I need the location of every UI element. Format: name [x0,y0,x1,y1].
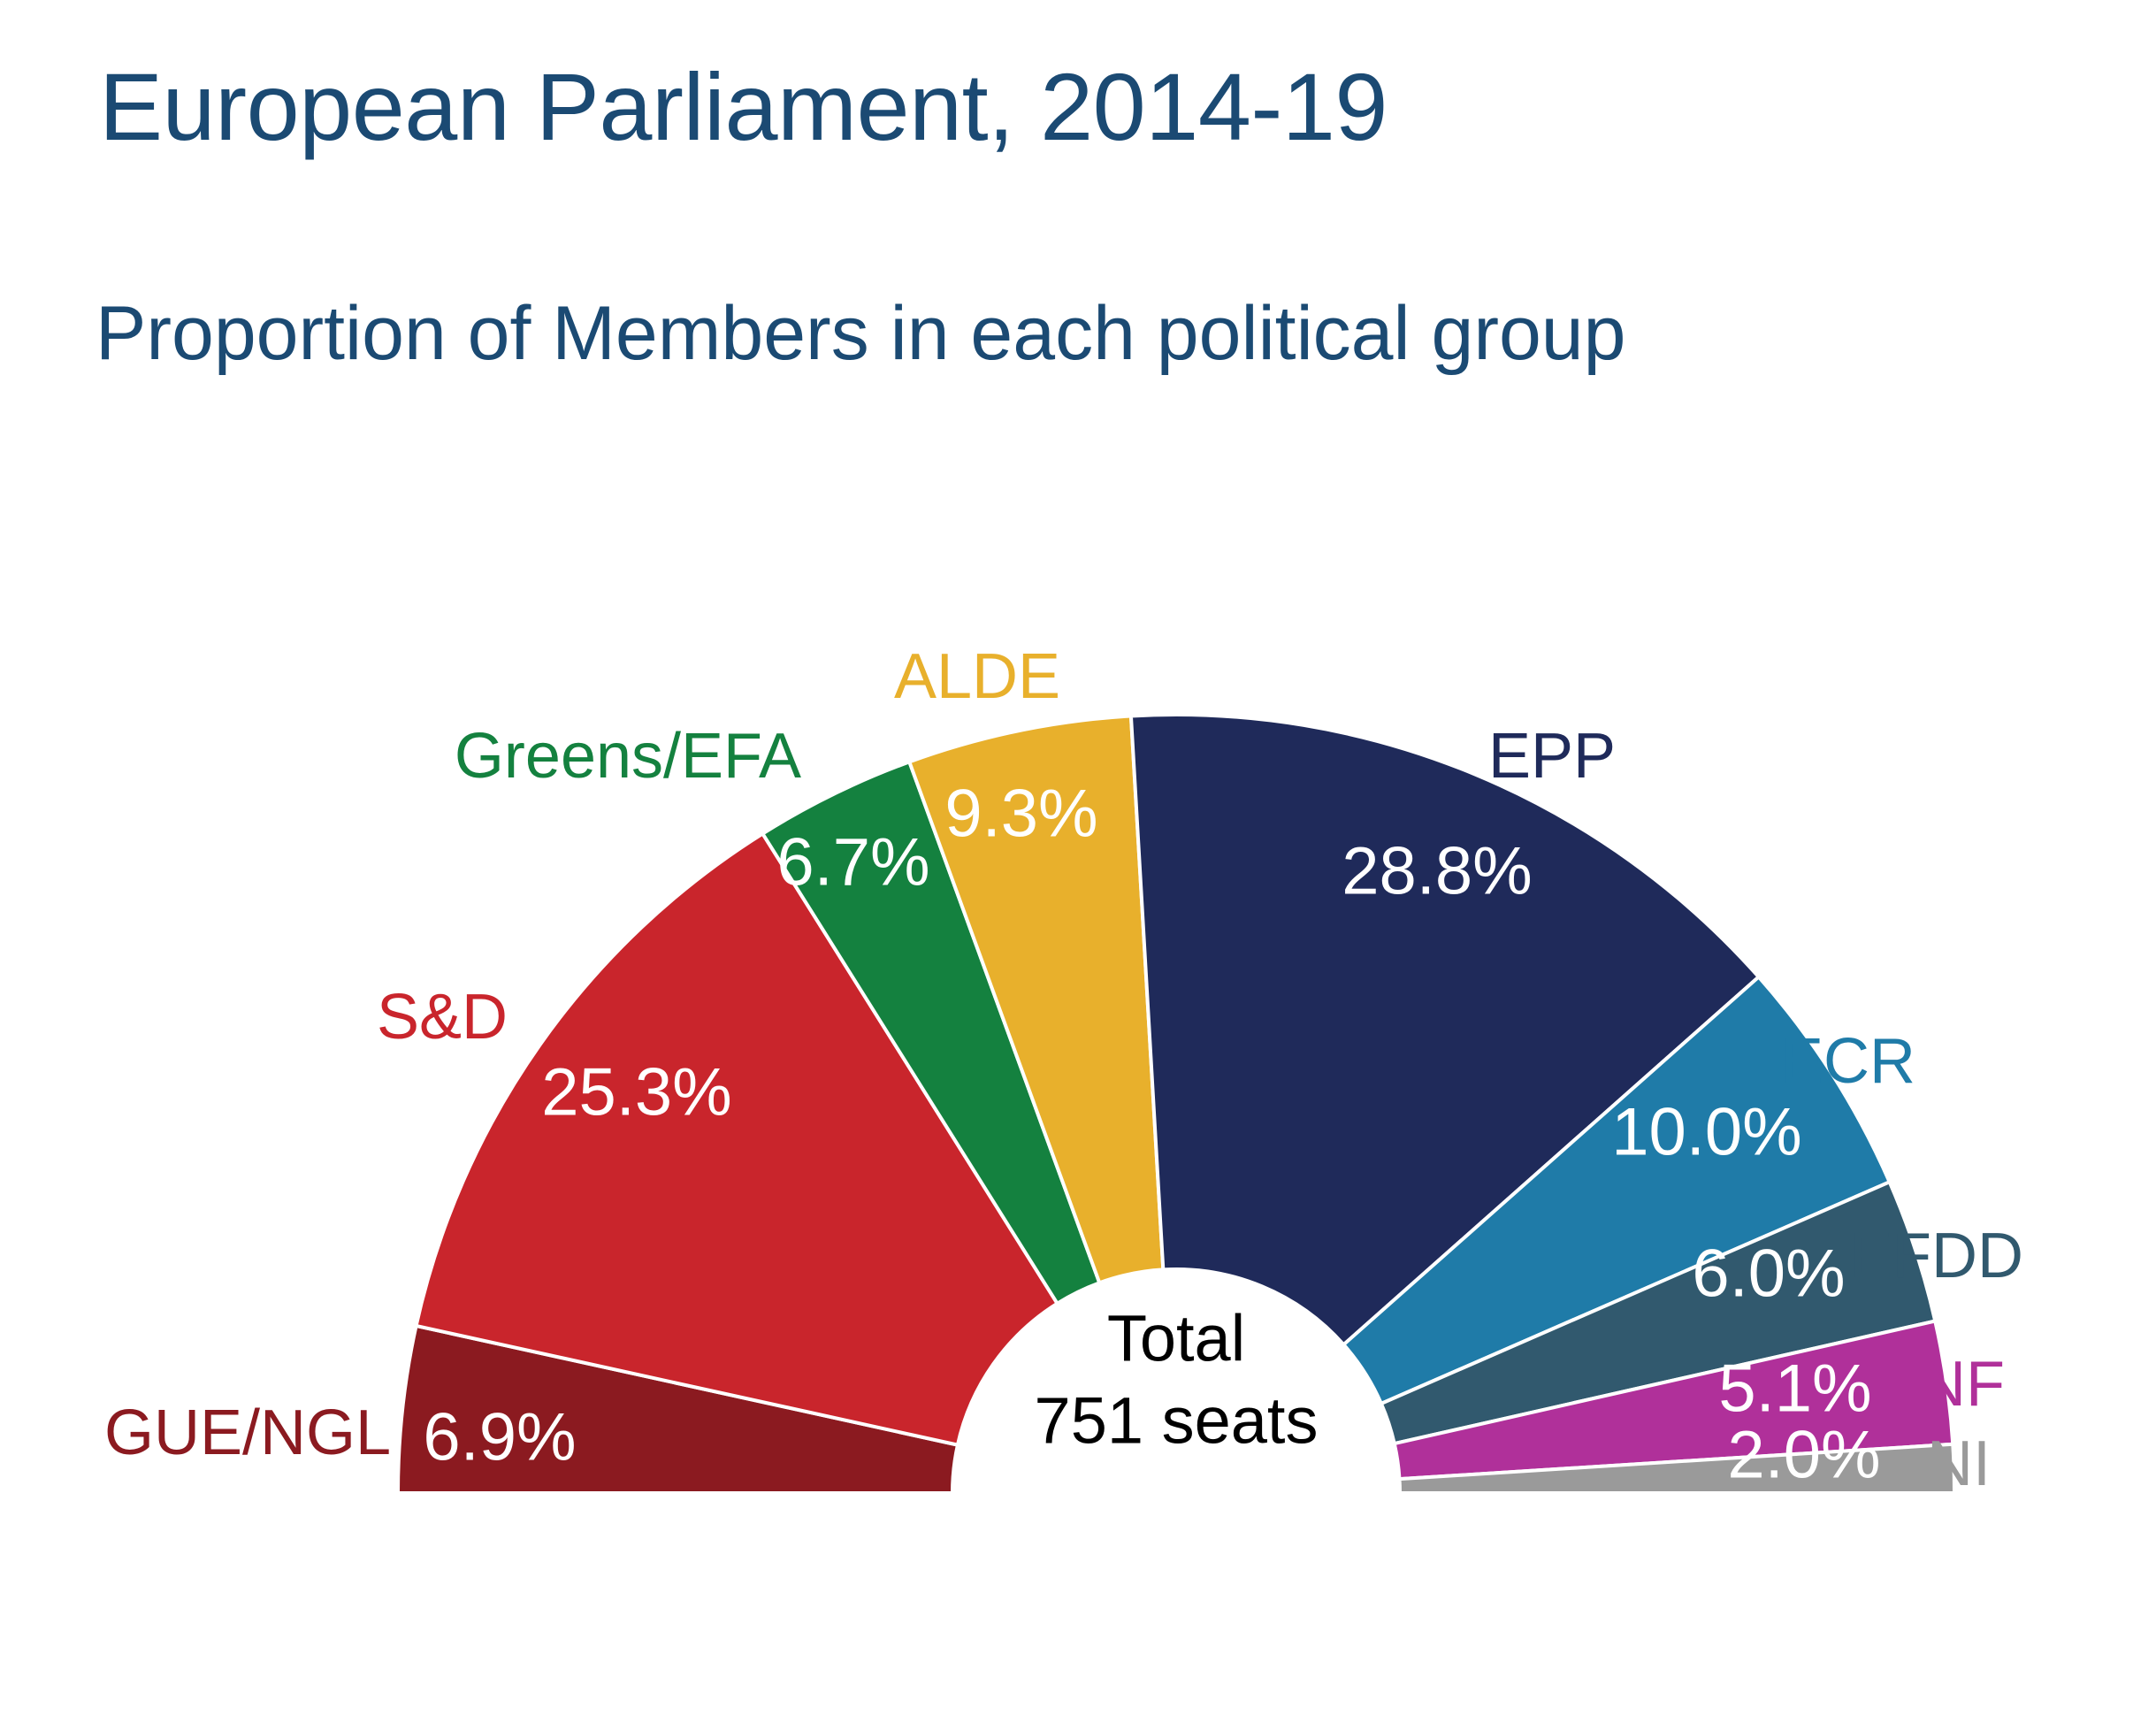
center-total-value: 751 seats [1035,1380,1319,1462]
center-total-annotation: Total 751 seats [1035,1298,1319,1462]
semicircle-pie-chart: GUE/NGL6.9%S&D25.3%Greens/EFA6.7%ALDE9.3… [0,0,2156,1723]
pie-slices-svg [0,0,2156,1723]
center-total-label: Total [1035,1298,1319,1381]
